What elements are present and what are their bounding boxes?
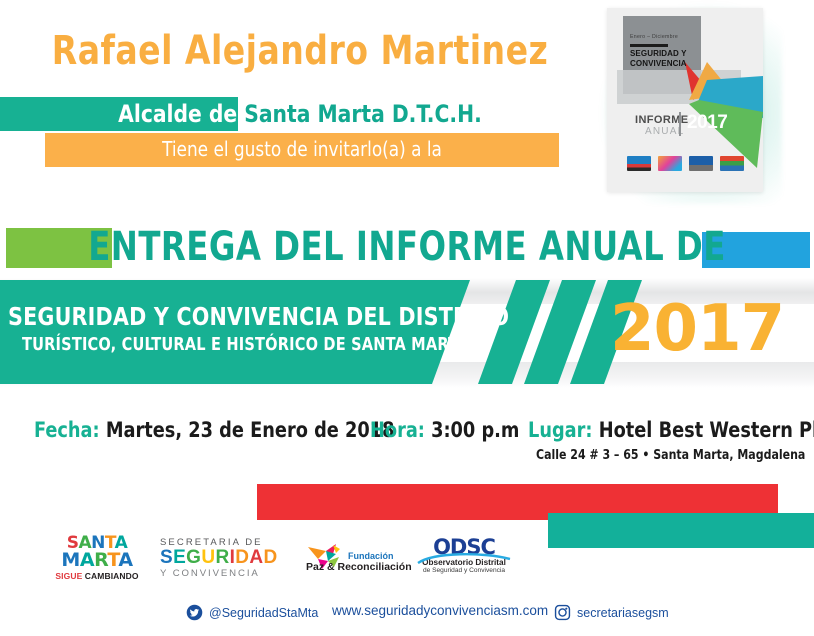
social-website[interactable]: www.seguridadyconvivenciasm.com (332, 603, 548, 618)
cover-divider (679, 112, 681, 136)
role-city: Santa Marta D.T.C.H. (244, 100, 482, 128)
detail-venue-label: Lugar: (528, 418, 593, 442)
section-subtitle: TURÍSTICO, CULTURAL E HISTÓRICO DE SANTA… (22, 334, 418, 355)
cover-logo-odsc (689, 156, 713, 171)
report-cover-thumbnail: Enero – Diciembre SEGURIDAD Y CONVIVENCI… (607, 8, 763, 192)
detail-date-label: Fecha: (34, 418, 100, 442)
cover-title: SEGURIDAD Y CONVIVENCIA (630, 49, 704, 68)
teal-section-band (0, 280, 470, 384)
odsc-sub2: de Seguridad y Convivencia (412, 567, 516, 574)
detail-time-value: 3:00 p.m (425, 418, 519, 442)
detail-time: Hora: 3:00 p.m (370, 418, 519, 442)
cover-logo-strip (627, 156, 747, 172)
detail-date: Fecha: Martes, 23 de Enero de 2018 (34, 418, 394, 442)
role-highlight: Alcalde de (118, 100, 244, 128)
santa-marta-tag-red: SIGUE (55, 571, 82, 581)
secretaria-line2: SEGURIDAD (160, 548, 290, 568)
invitation-flyer: Rafael Alejandro Martinez Alcalde de San… (0, 0, 814, 636)
logo-secretaria-seguridad: SECRETARIA DE SEGURIDAD Y CONVIVENCIA (160, 537, 290, 579)
santa-marta-tag-dark: CAMBIANDO (82, 571, 138, 581)
instagram-handle: secretariasegsm (577, 606, 669, 620)
instagram-camera-icon (554, 604, 571, 621)
cover-rule (630, 44, 668, 47)
logo-odsc: ODSC Observatorio Distrital de Seguridad… (412, 537, 516, 574)
website-url: www.seguridadyconvivenciasm.com (332, 603, 548, 618)
cover-year: 2017 (687, 112, 727, 134)
section-title: SEGURIDAD Y CONVIVENCIA DEL DISTRITO (8, 302, 422, 331)
detail-venue-value: Hotel Best Western Plus (593, 418, 814, 442)
fundacion-line2: Paz & Reconciliación (306, 561, 412, 573)
sponsor-logo-row: SANTA MARTA SIGUE CAMBIANDO SECRETARIA D… (0, 527, 814, 595)
santa-marta-tagline: SIGUE CAMBIANDO (50, 571, 144, 581)
mayor-name: Rafael Alejandro Martinez (24, 28, 576, 74)
event-headline: ENTREGA DEL INFORME ANUAL DE (41, 224, 774, 270)
fundacion-line1: Fundación (348, 551, 394, 561)
detail-time-label: Hora: (370, 418, 425, 442)
santa-marta-line2: MARTA (50, 551, 144, 570)
cover-logo-santa-marta (627, 156, 651, 171)
cover-logo-secretaria (720, 156, 744, 171)
detail-venue: Lugar: Hotel Best Western Plus (528, 418, 814, 442)
big-year: 2017 (610, 292, 784, 366)
cover-logo-fundacion (658, 156, 682, 171)
social-instagram[interactable]: secretariasegsm (554, 604, 669, 621)
social-twitter[interactable]: @SeguridadStaMta (186, 604, 318, 621)
detail-date-value: Martes, 23 de Enero de 2018 (100, 418, 395, 442)
detail-address: Calle 24 # 3 – 65 • Santa Marta, Magdale… (536, 448, 805, 463)
event-details-row: Fecha: Martes, 23 de Enero de 2018 Hora:… (0, 414, 814, 474)
cover-period: Enero – Diciembre (630, 34, 700, 40)
twitter-bird-icon (186, 604, 203, 621)
secretaria-line3: Y CONVIVENCIA (160, 568, 290, 579)
logo-santa-marta: SANTA MARTA SIGUE CAMBIANDO (50, 535, 144, 581)
social-bar: @SeguridadStaMta www.seguridadyconvivenc… (0, 600, 814, 630)
twitter-handle: @SeguridadStaMta (209, 606, 318, 620)
odsc-swoosh-icon (414, 549, 514, 567)
invitation-line: Tiene el gusto de invitarlo(a) a la (60, 137, 543, 161)
mayor-role-line: Alcalde de Santa Marta D.T.C.H. (18, 100, 582, 128)
